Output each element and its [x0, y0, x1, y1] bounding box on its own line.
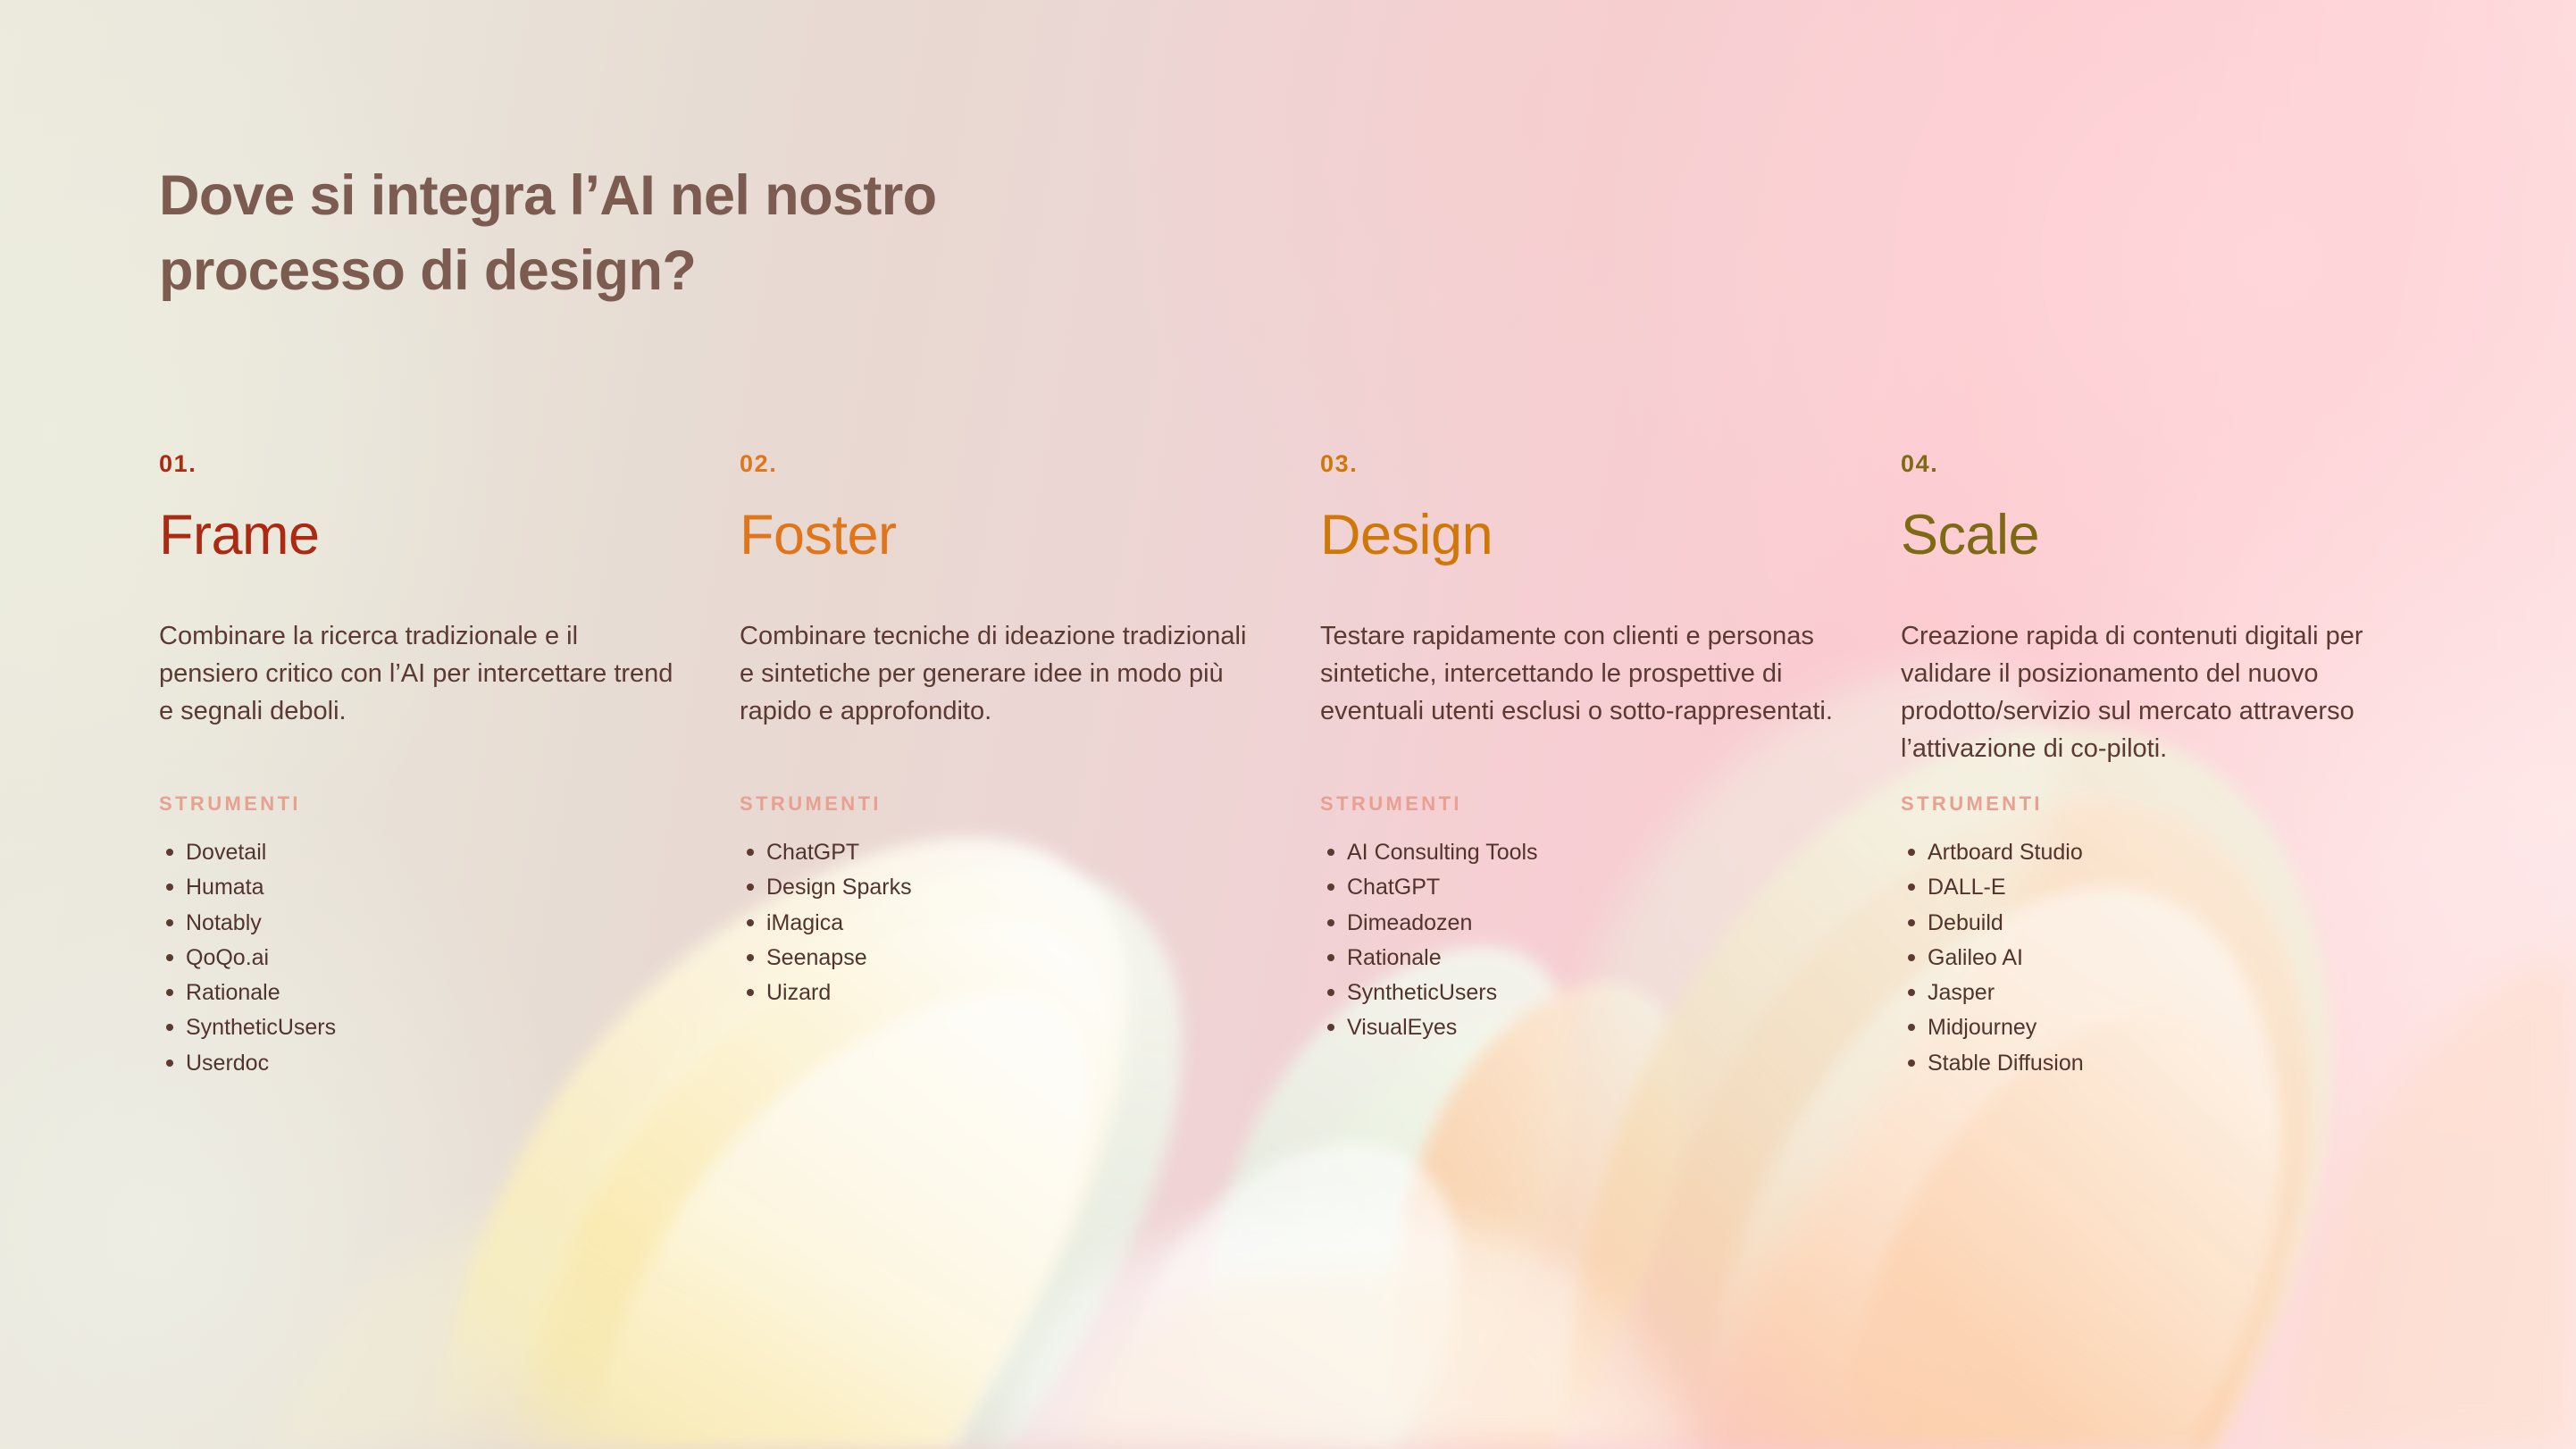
page-title: Dove si integra l’AI nel nostro processo…	[159, 159, 1159, 309]
list-item: Dimeadozen	[1320, 906, 1856, 941]
column-title: Design	[1320, 507, 1856, 564]
list-item: Rationale	[1320, 941, 1856, 976]
column-description: Combinare la ricerca tradizionale e il p…	[159, 617, 677, 730]
list-item: Seenapse	[740, 941, 1275, 976]
process-column-frame: 01. Frame Combinare la ricerca tradizion…	[159, 452, 695, 1081]
column-title: Foster	[740, 507, 1275, 564]
column-title: Frame	[159, 507, 695, 564]
tools-label: STRUMENTI	[1901, 792, 2437, 816]
column-description: Combinare tecniche di ideazione tradizio…	[740, 617, 1258, 730]
list-item: ChatGPT	[740, 835, 1275, 870]
tools-list: ChatGPT Design Sparks iMagica Seenapse U…	[740, 835, 1275, 1010]
list-item: Dovetail	[159, 835, 695, 870]
list-item: Design Sparks	[740, 870, 1275, 905]
list-item: Notably	[159, 906, 695, 941]
list-item: DALL-E	[1901, 870, 2437, 905]
process-column-scale: 04. Scale Creazione rapida di contenuti …	[1901, 452, 2437, 1081]
list-item: VisualEyes	[1320, 1010, 1856, 1045]
list-item: SyntheticUsers	[1320, 976, 1856, 1010]
tools-list: Artboard Studio DALL-E Debuild Galileo A…	[1901, 835, 2437, 1081]
list-item: ChatGPT	[1320, 870, 1856, 905]
list-item: SyntheticUsers	[159, 1010, 695, 1045]
tools-label: STRUMENTI	[1320, 792, 1856, 816]
column-tools-band: STRUMENTI ChatGPT Design Sparks iMagica …	[740, 792, 1275, 1010]
list-item: iMagica	[740, 906, 1275, 941]
process-column-design: 03. Design Testare rapidamente con clien…	[1320, 452, 1856, 1081]
list-item: Stable Diffusion	[1901, 1046, 2437, 1081]
process-columns: 01. Frame Combinare la ricerca tradizion…	[159, 452, 2446, 1081]
tools-list: Dovetail Humata Notably QoQo.ai Rational…	[159, 835, 695, 1081]
column-description: Creazione rapida di contenuti digitali p…	[1901, 617, 2419, 767]
column-tools-band: STRUMENTI Artboard Studio DALL-E Debuild…	[1901, 792, 2437, 1081]
list-item: QoQo.ai	[159, 941, 695, 976]
list-item: Midjourney	[1901, 1010, 2437, 1045]
list-item: Galileo AI	[1901, 941, 2437, 976]
list-item: Artboard Studio	[1901, 835, 2437, 870]
tools-label: STRUMENTI	[740, 792, 1275, 816]
list-item: Debuild	[1901, 906, 2437, 941]
column-number: 03.	[1320, 452, 1856, 476]
list-item: Userdoc	[159, 1046, 695, 1081]
column-description-band: Creazione rapida di contenuti digitali p…	[1901, 617, 2437, 792]
column-number: 04.	[1901, 452, 2437, 476]
column-tools-band: STRUMENTI Dovetail Humata Notably QoQo.a…	[159, 792, 695, 1081]
column-tools-band: STRUMENTI AI Consulting Tools ChatGPT Di…	[1320, 792, 1856, 1046]
column-number: 01.	[159, 452, 695, 476]
list-item: Jasper	[1901, 976, 2437, 1010]
column-description-band: Combinare tecniche di ideazione tradizio…	[740, 617, 1275, 792]
slide-content: Dove si integra l’AI nel nostro processo…	[0, 0, 2576, 1449]
list-item: Uizard	[740, 976, 1275, 1010]
column-description-band: Combinare la ricerca tradizionale e il p…	[159, 617, 695, 792]
process-column-foster: 02. Foster Combinare tecniche di ideazio…	[740, 452, 1275, 1081]
list-item: Humata	[159, 870, 695, 905]
column-description-band: Testare rapidamente con clienti e person…	[1320, 617, 1856, 792]
column-title: Scale	[1901, 507, 2437, 564]
tools-label: STRUMENTI	[159, 792, 695, 816]
list-item: AI Consulting Tools	[1320, 835, 1856, 870]
list-item: Rationale	[159, 976, 695, 1010]
column-number: 02.	[740, 452, 1275, 476]
tools-list: AI Consulting Tools ChatGPT Dimeadozen R…	[1320, 835, 1856, 1046]
column-description: Testare rapidamente con clienti e person…	[1320, 617, 1838, 730]
